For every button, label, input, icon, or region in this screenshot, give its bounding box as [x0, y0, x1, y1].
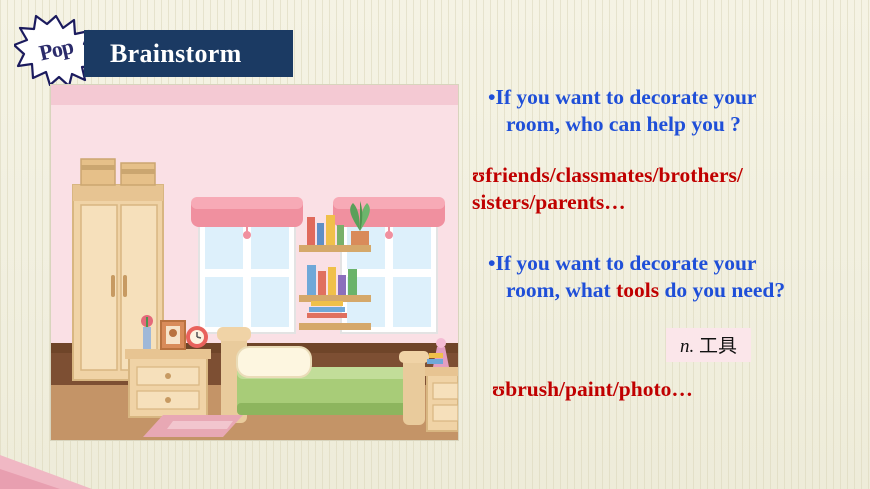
question-2: •If you want to decorate your room, what…: [488, 250, 852, 304]
answer-1-line-1: ʊfriends/classmates/brothers/: [472, 163, 743, 187]
gloss-box: n. 工具: [666, 328, 751, 362]
title-bar: Brainstorm: [84, 30, 293, 77]
gloss-pos: n.: [680, 336, 694, 357]
question-2-line-2: room, what tools do you need?: [488, 277, 852, 304]
answer-2: ʊbrush/paint/photo…: [492, 376, 844, 403]
question-1: •If you want to decorate your room, who …: [488, 84, 852, 138]
text-column: •If you want to decorate your room, who …: [472, 84, 852, 424]
question-1-line-1: •If you want to decorate your: [488, 85, 756, 109]
slide-canvas: Pop Brainstorm: [0, 0, 870, 489]
answer-1: ʊfriends/classmates/brothers/ sisters/pa…: [472, 162, 844, 216]
question-2-text-before: room, what: [506, 278, 616, 302]
gloss-text: 工具: [699, 336, 737, 357]
tools-keyword: tools: [616, 278, 659, 302]
page-title: Brainstorm: [110, 39, 242, 69]
bedroom-illustration: [50, 84, 459, 441]
question-2-line-1: •If you want to decorate your: [488, 251, 756, 275]
answer-1-line-2: sisters/parents…: [472, 189, 844, 216]
corner-wedge-decoration: [0, 445, 92, 489]
question-1-line-2: room, who can help you ?: [488, 111, 852, 138]
question-2-text-after: do you need?: [659, 278, 785, 302]
